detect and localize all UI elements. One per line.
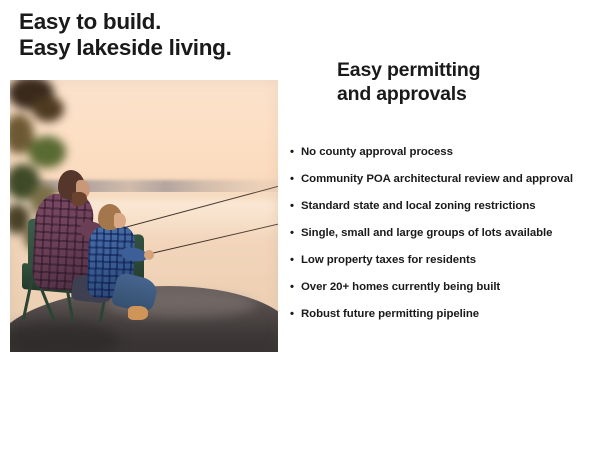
- bullet-marker-icon: •: [290, 222, 294, 245]
- boy-hand: [144, 250, 154, 260]
- list-item-label: Community POA architectural review and a…: [301, 168, 589, 191]
- photo-inner: [10, 80, 278, 352]
- section-heading-line-2: and approvals: [337, 82, 587, 106]
- list-item: • Robust future permitting pipeline: [289, 303, 589, 326]
- section-heading-line-1: Easy permitting: [337, 58, 587, 82]
- slide-canvas: Easy to build. Easy lakeside living.: [0, 0, 600, 450]
- list-item-label: Single, small and large groups of lots a…: [301, 222, 589, 245]
- benefits-bullet-list: • No county approval process • Community…: [289, 141, 589, 330]
- list-item: • Low property taxes for residents: [289, 249, 589, 272]
- list-item-label: No county approval process: [301, 141, 589, 164]
- list-item-label: Standard state and local zoning restrict…: [301, 195, 589, 218]
- boy-face: [114, 213, 126, 228]
- lakeside-fishing-photo: [10, 80, 278, 352]
- bullet-marker-icon: •: [290, 249, 294, 272]
- list-item-label: Robust future permitting pipeline: [301, 303, 589, 326]
- bullet-marker-icon: •: [290, 276, 294, 299]
- boy-boot: [128, 306, 148, 320]
- list-item: • Single, small and large groups of lots…: [289, 222, 589, 245]
- list-item: • Community POA architectural review and…: [289, 168, 589, 191]
- list-item-label: Low property taxes for residents: [301, 249, 589, 272]
- bullet-marker-icon: •: [290, 195, 294, 218]
- slide-title: Easy to build. Easy lakeside living.: [19, 9, 299, 61]
- list-item: • Standard state and local zoning restri…: [289, 195, 589, 218]
- list-item: • No county approval process: [289, 141, 589, 164]
- slide-title-line-2: Easy lakeside living.: [19, 35, 299, 61]
- section-heading: Easy permitting and approvals: [337, 58, 587, 106]
- bullet-marker-icon: •: [290, 303, 294, 326]
- bullet-marker-icon: •: [290, 141, 294, 164]
- slide-title-line-1: Easy to build.: [19, 9, 299, 35]
- list-item: • Over 20+ homes currently being built: [289, 276, 589, 299]
- list-item-label: Over 20+ homes currently being built: [301, 276, 589, 299]
- bullet-marker-icon: •: [290, 168, 294, 191]
